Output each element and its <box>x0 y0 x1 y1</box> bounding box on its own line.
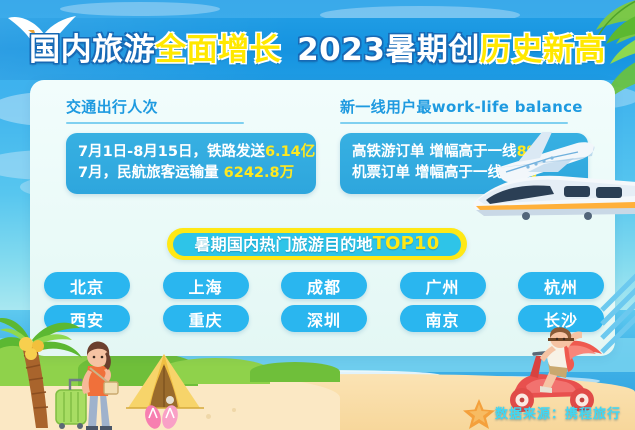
city-list: 北京 上海 成都 广州 杭州 西安 重庆 深圳 南京 长沙 <box>44 272 604 338</box>
city-pill-chongqing[interactable]: 重庆 <box>163 305 249 332</box>
city-pill-hangzhou[interactable]: 杭州 <box>518 272 604 299</box>
city-pill-shanghai[interactable]: 上海 <box>163 272 249 299</box>
top10-label: 暑期国内热门旅游目的地 <box>194 231 372 255</box>
card-traffic-infobox: 7月1日-8月15日，铁路发送6.14亿 7月，民航旅客运输量 6242.8万 <box>66 133 316 194</box>
card-traffic-line-2-text: 7月，民航旅客运输量 <box>78 165 224 181</box>
infographic-canvas: 国内旅游全面增长2023暑期创历史新高 交通出行人次 7月1日-8月15日，铁路… <box>0 0 635 430</box>
city-pill-nanjing[interactable]: 南京 <box>400 305 486 332</box>
top10-banner: 暑期国内热门旅游目的地TOP10 <box>167 228 467 260</box>
city-pill-chengdu[interactable]: 成都 <box>281 272 367 299</box>
top10-banner-inner: 暑期国内热门旅游目的地TOP10 <box>173 233 461 256</box>
stripe-decoration <box>606 296 635 356</box>
cloud-shape <box>60 2 220 16</box>
page-title: 国内旅游全面增长2023暑期创历史新高 <box>0 26 635 74</box>
top10-suffix: TOP10 <box>373 233 440 254</box>
card-traffic: 交通出行人次 7月1日-8月15日，铁路发送6.14亿 7月，民航旅客运输量 6… <box>66 96 316 194</box>
data-source-label: 数据来源：携程旅行 <box>495 403 621 422</box>
pebble-shape <box>206 414 211 419</box>
city-pill-guangzhou[interactable]: 广州 <box>400 272 486 299</box>
starfish-icon <box>462 398 496 430</box>
card-traffic-line-1-text: 7月1日-8月15日，铁路发送 <box>78 144 265 160</box>
grass-hill <box>250 362 340 382</box>
title-part-2: 全面增长 <box>155 32 281 68</box>
flip-flops-icon <box>142 404 182 430</box>
city-pill-beijing[interactable]: 北京 <box>44 272 130 299</box>
card-traffic-line-1-value: 6.14亿 <box>265 144 315 160</box>
card-newtier-title: 新一线用户最work-life balance <box>340 96 588 117</box>
card-newtier-rule <box>340 122 568 124</box>
card-traffic-rule <box>66 122 244 124</box>
card-traffic-line-1: 7月1日-8月15日，铁路发送6.14亿 <box>78 142 304 163</box>
card-traffic-title: 交通出行人次 <box>66 96 316 117</box>
high-speed-train-icon <box>468 166 635 220</box>
card-traffic-line-2-value: 6242.8万 <box>224 165 294 181</box>
city-row-1: 北京 上海 成都 广州 杭州 <box>44 272 604 299</box>
card-traffic-line-2: 7月，民航旅客运输量 6242.8万 <box>78 163 304 184</box>
city-pill-shenzhen[interactable]: 深圳 <box>281 305 367 332</box>
title-part-4: 历史新高 <box>480 32 606 68</box>
title-part-3: 2023暑期创 <box>297 32 480 68</box>
title-part-1: 国内旅游 <box>29 32 155 68</box>
city-row-2: 西安 重庆 深圳 南京 长沙 <box>44 305 604 332</box>
pebble-shape <box>232 408 236 412</box>
